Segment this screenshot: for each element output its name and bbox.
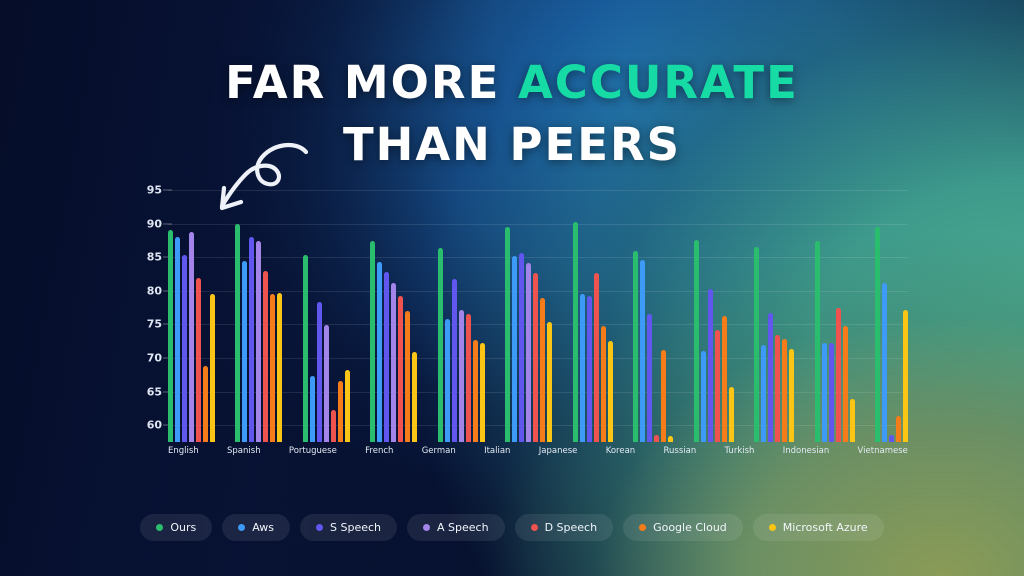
x-tick-label: Indonesian bbox=[783, 446, 830, 466]
bar-group bbox=[633, 180, 673, 442]
bar-group bbox=[168, 180, 215, 442]
bar[interactable] bbox=[405, 311, 410, 442]
bar-group bbox=[754, 180, 794, 442]
bar[interactable] bbox=[533, 273, 538, 442]
bar[interactable] bbox=[303, 255, 308, 442]
bar[interactable] bbox=[480, 343, 485, 442]
x-tick-label: Korean bbox=[606, 446, 635, 466]
bar[interactable] bbox=[317, 302, 322, 442]
legend-color-dot-icon bbox=[423, 524, 430, 531]
y-tick-label: 85 bbox=[122, 251, 162, 264]
bar[interactable] bbox=[384, 272, 389, 442]
bar[interactable] bbox=[445, 319, 450, 442]
bar[interactable] bbox=[526, 263, 531, 442]
bar-chart: 6065707580859095 EnglishSpanishPortugues… bbox=[118, 180, 908, 480]
bar[interactable] bbox=[331, 410, 336, 442]
y-tick-label: 65 bbox=[122, 385, 162, 398]
bar[interactable] bbox=[466, 314, 471, 442]
bar[interactable] bbox=[168, 230, 173, 442]
chart-legend: OursAwsS SpeechA SpeechD SpeechGoogle Cl… bbox=[0, 514, 1024, 541]
bar[interactable] bbox=[701, 351, 706, 442]
bar[interactable] bbox=[277, 293, 282, 442]
legend-color-dot-icon bbox=[316, 524, 323, 531]
legend-item-label: S Speech bbox=[330, 521, 381, 534]
bar[interactable] bbox=[412, 352, 417, 442]
bar[interactable] bbox=[896, 416, 901, 442]
x-tick-label: German bbox=[422, 446, 456, 466]
bar[interactable] bbox=[782, 339, 787, 442]
bar[interactable] bbox=[647, 314, 652, 442]
bar-group bbox=[875, 180, 908, 442]
bar[interactable] bbox=[573, 222, 578, 442]
x-axis-labels: EnglishSpanishPortugueseFrenchGermanItal… bbox=[168, 446, 908, 466]
bar[interactable] bbox=[203, 366, 208, 442]
legend-item[interactable]: D Speech bbox=[515, 514, 614, 541]
bar[interactable] bbox=[722, 316, 727, 442]
bar[interactable] bbox=[505, 227, 510, 442]
legend-item[interactable]: S Speech bbox=[300, 514, 397, 541]
y-tick-label: 70 bbox=[122, 352, 162, 365]
bar[interactable] bbox=[789, 349, 794, 442]
legend-item[interactable]: A Speech bbox=[407, 514, 505, 541]
bar[interactable] bbox=[903, 310, 908, 442]
x-tick-label: Japanese bbox=[539, 446, 578, 466]
x-tick-label: Turkish bbox=[725, 446, 755, 466]
y-tick-label: 95 bbox=[122, 184, 162, 197]
bar[interactable] bbox=[519, 253, 524, 442]
legend-item[interactable]: Google Cloud bbox=[623, 514, 743, 541]
bar[interactable] bbox=[775, 335, 780, 442]
bar-group bbox=[815, 180, 855, 442]
bar[interactable] bbox=[391, 283, 396, 442]
x-tick-label: Vietnamese bbox=[858, 446, 908, 466]
y-tick-label: 60 bbox=[122, 419, 162, 432]
bar[interactable] bbox=[196, 278, 201, 442]
bar[interactable] bbox=[843, 326, 848, 442]
plot-area: 6065707580859095 bbox=[168, 180, 908, 442]
legend-item-label: Ours bbox=[170, 521, 196, 534]
bar[interactable] bbox=[729, 387, 734, 442]
bar[interactable] bbox=[473, 340, 478, 442]
x-tick-label: Portuguese bbox=[289, 446, 337, 466]
y-tick-label: 80 bbox=[122, 284, 162, 297]
bar[interactable] bbox=[189, 232, 194, 442]
bar[interactable] bbox=[242, 261, 247, 442]
bar[interactable] bbox=[850, 399, 855, 442]
bar-groups bbox=[168, 180, 908, 442]
legend-item[interactable]: Ours bbox=[140, 514, 212, 541]
bar[interactable] bbox=[715, 330, 720, 442]
bar[interactable] bbox=[580, 294, 585, 442]
legend-item[interactable]: Microsoft Azure bbox=[753, 514, 884, 541]
legend-item[interactable]: Aws bbox=[222, 514, 290, 541]
bar[interactable] bbox=[661, 350, 666, 442]
x-tick-label: Spanish bbox=[227, 446, 261, 466]
bar[interactable] bbox=[822, 343, 827, 442]
x-tick-label: Russian bbox=[663, 446, 696, 466]
bar[interactable] bbox=[256, 241, 261, 442]
bar[interactable] bbox=[694, 240, 699, 442]
bar[interactable] bbox=[370, 241, 375, 442]
bar[interactable] bbox=[249, 237, 254, 442]
legend-color-dot-icon bbox=[531, 524, 538, 531]
legend-item-label: A Speech bbox=[437, 521, 489, 534]
bar[interactable] bbox=[210, 294, 215, 442]
bar[interactable] bbox=[633, 251, 638, 442]
legend-item-label: Google Cloud bbox=[653, 521, 727, 534]
bar[interactable] bbox=[398, 296, 403, 442]
bar[interactable] bbox=[235, 224, 240, 442]
bar[interactable] bbox=[815, 241, 820, 442]
legend-color-dot-icon bbox=[238, 524, 245, 531]
bar[interactable] bbox=[601, 326, 606, 442]
bar[interactable] bbox=[836, 308, 841, 442]
x-tick-label: French bbox=[365, 446, 393, 466]
legend-color-dot-icon bbox=[769, 524, 776, 531]
bar[interactable] bbox=[345, 370, 350, 442]
bar[interactable] bbox=[377, 262, 382, 442]
y-tick-label: 75 bbox=[122, 318, 162, 331]
legend-color-dot-icon bbox=[639, 524, 646, 531]
y-tick-label: 90 bbox=[122, 217, 162, 230]
bar[interactable] bbox=[338, 381, 343, 442]
bar[interactable] bbox=[512, 256, 517, 442]
bar[interactable] bbox=[829, 343, 834, 442]
bar[interactable] bbox=[438, 248, 443, 442]
bar[interactable] bbox=[324, 325, 329, 442]
bar-group bbox=[694, 180, 734, 442]
bar-group bbox=[573, 180, 613, 442]
legend-item-label: Microsoft Azure bbox=[783, 521, 868, 534]
bar[interactable] bbox=[452, 279, 457, 442]
bar[interactable] bbox=[882, 283, 887, 442]
bar-group bbox=[235, 180, 282, 442]
bar[interactable] bbox=[540, 298, 545, 442]
bar[interactable] bbox=[654, 435, 659, 442]
bar[interactable] bbox=[182, 255, 187, 442]
bar[interactable] bbox=[594, 273, 599, 442]
x-tick-label: Italian bbox=[484, 446, 510, 466]
bar[interactable] bbox=[754, 247, 759, 442]
bar-group bbox=[438, 180, 485, 442]
bar[interactable] bbox=[875, 227, 880, 442]
legend-item-label: D Speech bbox=[545, 521, 598, 534]
bar[interactable] bbox=[270, 294, 275, 442]
bar[interactable] bbox=[608, 341, 613, 442]
bar[interactable] bbox=[708, 289, 713, 442]
bar[interactable] bbox=[668, 436, 673, 442]
bar[interactable] bbox=[889, 435, 894, 442]
slide-canvas: FAR MORE ACCURATE THAN PEERS 60657075808… bbox=[0, 0, 1024, 576]
x-tick-label: English bbox=[168, 446, 199, 466]
bar[interactable] bbox=[459, 310, 464, 442]
bar[interactable] bbox=[263, 271, 268, 442]
bar[interactable] bbox=[547, 322, 552, 442]
bar[interactable] bbox=[175, 237, 180, 442]
bar[interactable] bbox=[761, 345, 766, 442]
legend-item-label: Aws bbox=[252, 521, 274, 534]
legend-color-dot-icon bbox=[156, 524, 163, 531]
bar-group bbox=[303, 180, 350, 442]
bar[interactable] bbox=[640, 260, 645, 442]
bar-group bbox=[370, 180, 417, 442]
bar[interactable] bbox=[310, 376, 315, 442]
bar[interactable] bbox=[768, 313, 773, 442]
bar[interactable] bbox=[587, 296, 592, 442]
bar-group bbox=[505, 180, 552, 442]
